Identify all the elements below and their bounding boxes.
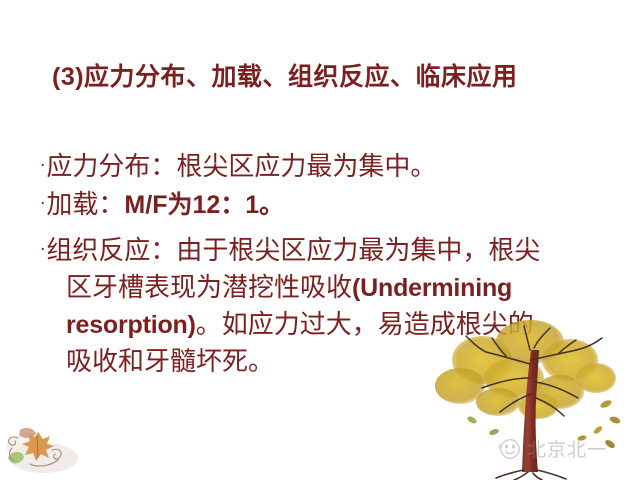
bullet-list: ·应力分布：根尖区应力最为集中。 ·加载：M/F为12：1。 bbox=[40, 148, 618, 224]
leaf-decoration-icon bbox=[2, 414, 82, 476]
bullet-loading-value: M/F为12：1。 bbox=[124, 191, 284, 219]
bullet-loading-label: 加载： bbox=[46, 190, 124, 220]
green-leaf-icon bbox=[8, 452, 24, 464]
bullet-loading: ·加载：M/F为12：1。 bbox=[40, 186, 618, 224]
swirl-ornament-icon bbox=[9, 437, 62, 466]
falling-leaves bbox=[466, 399, 621, 450]
slide-canvas: (3)应力分布、加载、组织反应、临床应用 ·应力分布：根尖区应力最为集中。 ·加… bbox=[0, 0, 640, 480]
watermark-text: 北京北一 bbox=[527, 435, 607, 462]
tissue-line-2-cn: 区牙槽表现为潜挖性吸收 bbox=[66, 273, 352, 303]
tissue-line-2: 区牙槽表现为潜挖性吸收(Undermining bbox=[40, 270, 632, 307]
tissue-line-1: ·组织反应：由于根尖区应力最为集中，根尖 bbox=[40, 232, 632, 270]
tan-leaf-icon bbox=[19, 428, 36, 438]
bullet-tissue-reaction: ·组织反应：由于根尖区应力最为集中，根尖 区牙槽表现为潜挖性吸收(Undermi… bbox=[40, 232, 632, 381]
page-title: (3)应力分布、加载、组织反应、临床应用 bbox=[52, 64, 518, 92]
tissue-line-1-text: 组织反应：由于根尖区应力最为集中，根尖 bbox=[46, 236, 540, 266]
tissue-line-3-cn: 。如应力过大，易造成根尖的 bbox=[196, 310, 534, 340]
bullet-stress-text: 应力分布：根尖区应力最为集中。 bbox=[46, 152, 436, 182]
tissue-line-2-en: (Undermining bbox=[352, 274, 512, 302]
watermark: 北京北一 bbox=[498, 435, 607, 462]
tissue-line-4-text: 吸收和牙髓坏死。 bbox=[66, 347, 274, 377]
tree-roots bbox=[496, 470, 566, 480]
maple-leaf-icon bbox=[22, 432, 54, 461]
tissue-line-3: resorption)。如应力过大，易造成根尖的 bbox=[40, 307, 632, 344]
smiley-face-logo-icon bbox=[498, 438, 522, 460]
tissue-line-3-en: resorption) bbox=[66, 311, 196, 339]
bullet-stress-distribution: ·应力分布：根尖区应力最为集中。 bbox=[40, 148, 618, 186]
tissue-line-4: 吸收和牙髓坏死。 bbox=[40, 344, 632, 381]
